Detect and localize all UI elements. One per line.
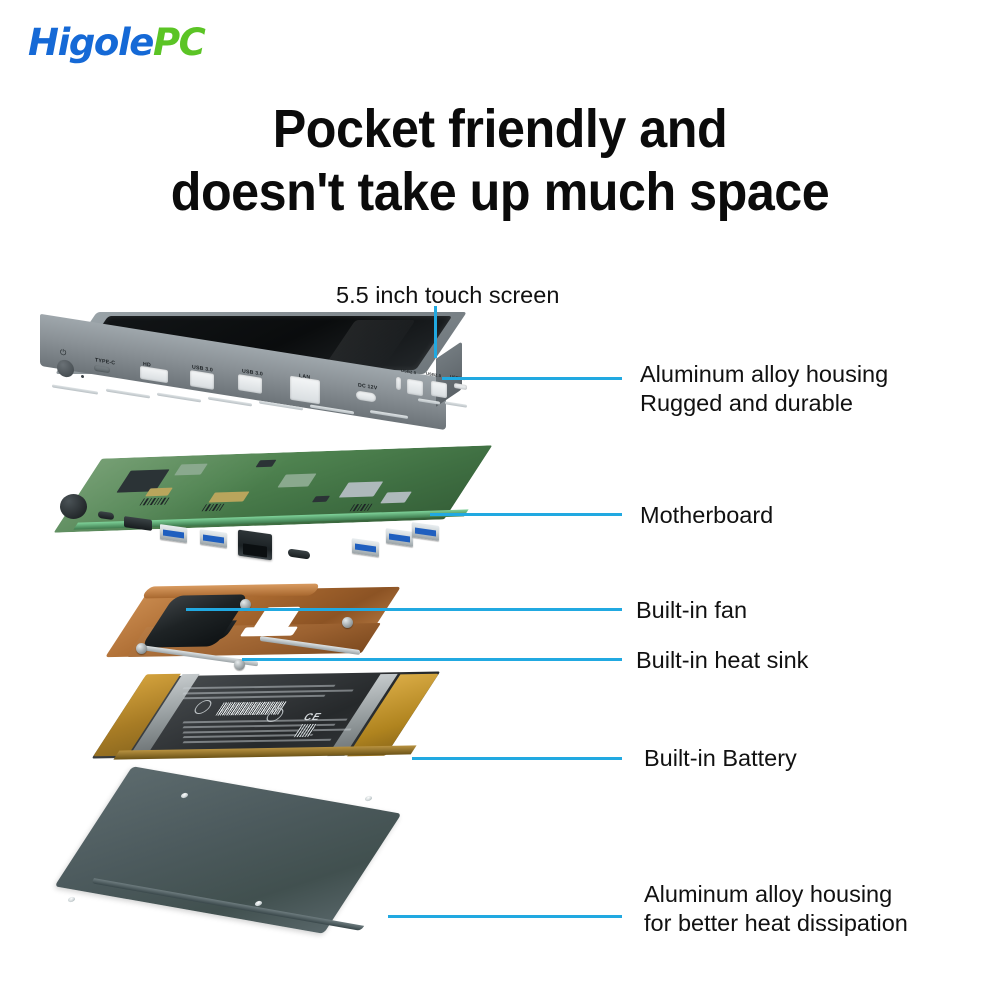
pin-header: [139, 498, 169, 506]
mobo-port-usb30-b: [200, 529, 227, 548]
screw-hole: [364, 795, 374, 801]
mobo-port-lan: [238, 530, 272, 561]
page-title-line-1: Pocket friendly and: [273, 99, 727, 159]
callout-motherboard: Motherboard: [640, 501, 773, 530]
vent-slot: [52, 384, 98, 394]
port-usb20-a: [407, 379, 423, 397]
callout-bottom-line-1: Aluminum alloy housing: [644, 880, 908, 909]
brand-logo-pc: PC: [153, 21, 204, 64]
cooling-assembly-part: [110, 585, 440, 680]
power-button-dome: [60, 494, 87, 519]
mobo-port-usb30-a: [160, 524, 187, 543]
leader-line-motherboard: [430, 513, 622, 516]
heat-sink-cutout: [240, 627, 298, 637]
power-symbol-icon: ⏻: [60, 347, 66, 358]
leader-line-touch-screen: [434, 306, 437, 358]
reset-pinhole: [81, 375, 84, 378]
leader-line-heat-sink: [242, 658, 622, 661]
callout-fan: Built-in fan: [636, 596, 747, 625]
mounting-screw: [136, 643, 147, 654]
screw-hole: [67, 896, 77, 902]
page-title: Pocket friendly and doesn't take up much…: [35, 98, 965, 223]
vent-slot: [445, 401, 467, 407]
port-audio-jack: [396, 377, 401, 391]
mobo-port-usb30-d: [386, 528, 413, 547]
leader-line-housing: [442, 377, 622, 380]
vent-slot: [106, 389, 150, 399]
brand-logo: HigolePC: [28, 24, 204, 61]
callout-touch-screen: 5.5 inch touch screen: [336, 281, 559, 310]
callout-housing-line-1: Aluminum alloy housing: [640, 360, 888, 389]
port-lan: [290, 376, 320, 405]
vent-slot: [157, 393, 201, 403]
mobo-port-usb30-e: [412, 522, 439, 541]
callout-bottom-line-2: for better heat dissipation: [644, 909, 908, 938]
leader-line-fan: [186, 608, 622, 611]
port-usb20-b: [431, 381, 447, 399]
callout-housing-line-2: Rugged and durable: [640, 389, 888, 418]
brand-logo-higole: Higole: [28, 21, 153, 64]
mounting-screw: [342, 617, 353, 628]
motherboard-part: [52, 452, 482, 577]
infographic-page: HigolePC Pocket friendly and doesn't tak…: [0, 0, 1000, 1000]
bottom-plate-face: [54, 766, 401, 934]
bottom-aluminum-plate-part: [78, 790, 458, 990]
callout-battery: Built-in Battery: [644, 744, 797, 773]
mobo-port-usb30-c: [352, 538, 379, 557]
callout-heat-sink: Built-in heat sink: [636, 646, 808, 675]
leader-line-bottom-plate: [388, 915, 622, 918]
battery-part: CE: [108, 672, 438, 782]
mobo-port-type-c-2: [288, 548, 310, 559]
callout-housing: Aluminum alloy housing Rugged and durabl…: [640, 360, 888, 418]
page-title-line-2: doesn't take up much space: [35, 161, 965, 224]
aluminum-housing-part: ⏻ TYPE-C HD USB 3.0 USB 3.0 LAN DC 12V U…: [40, 312, 490, 452]
callout-bottom-plate: Aluminum alloy housing for better heat d…: [644, 880, 908, 938]
leader-line-battery: [412, 757, 622, 760]
